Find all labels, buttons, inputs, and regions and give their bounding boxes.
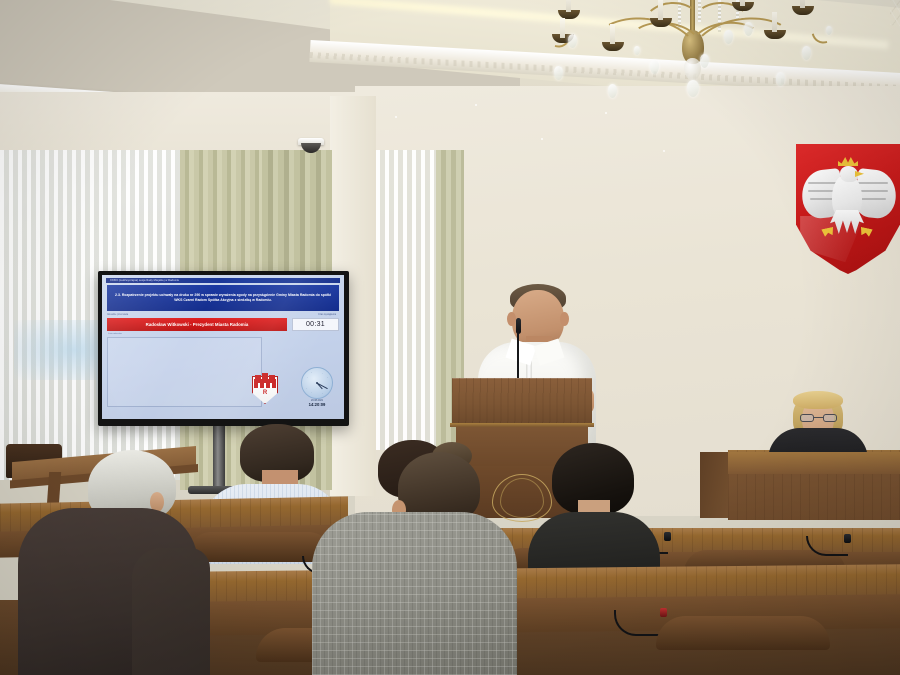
radom-city-crest-icon: R — [252, 372, 278, 404]
speech-timer-value: 00:31 — [306, 321, 325, 328]
presentation-display[interactable]: XXXIII (nadzwyczajna) sesja Rady Miejski… — [98, 271, 349, 426]
chandelier-crystal-drop — [776, 72, 785, 86]
chandelier-candle — [566, 0, 571, 12]
agenda-item-panel: 2.3. Rozpatrzenie projektu uchwały na dr… — [107, 285, 339, 311]
security-camera-icon — [298, 138, 324, 152]
camera-dome — [301, 143, 321, 153]
session-header-bar: XXXIII (nadzwyczajna) sesja Rady Miejski… — [106, 278, 340, 283]
chandelier-candle — [560, 18, 565, 38]
clock-time-text: 14:20:09 — [298, 402, 336, 407]
crest-tower-right — [269, 375, 275, 383]
chandelier-candle — [800, 0, 805, 8]
chandelier-candle — [740, 0, 745, 6]
chandelier-crystal-drop — [608, 84, 617, 98]
session-clock: 20.08.2021 14:20:09 — [298, 367, 336, 411]
chandelier-candle — [658, 0, 663, 20]
chandelier-crystal-drop — [802, 46, 811, 60]
dais-side-panel — [700, 452, 730, 518]
chandelier-crystal-drop — [568, 34, 577, 48]
speaker-ear-right — [560, 312, 569, 326]
audience4-tweed-jacket — [312, 512, 517, 675]
podium-microphone — [516, 318, 520, 380]
bench-seat-d[interactable] — [656, 616, 830, 650]
speaker-caption-label: Aktualnie przemawia — [107, 314, 128, 316]
shirt-collar-right — [534, 338, 565, 365]
session-hall-photo: XXXIII (nadzwyczajna) sesja Rady Miejski… — [0, 0, 900, 675]
table-left-leg — [47, 472, 61, 506]
official-fringe — [793, 391, 843, 409]
dais-front-rail — [728, 452, 900, 474]
tweed-texture — [312, 512, 517, 675]
chandelier-center-drop — [687, 80, 699, 97]
agenda-item-text: 2.3. Rozpatrzenie projektu uchwały na dr… — [114, 293, 332, 303]
polish-coat-of-arms-icon — [796, 144, 900, 274]
current-speaker-name: Radosław Witkowski - Prezydent Miasta Ra… — [146, 322, 249, 327]
bench-microphone-2[interactable] — [806, 536, 848, 556]
chandelier-crystal-drop — [554, 66, 563, 80]
eyeglasses-icon — [800, 414, 837, 422]
chandelier-candle — [610, 24, 615, 44]
podium-gold-inlay-inner — [500, 478, 544, 518]
speech-timer: 00:31 — [292, 318, 339, 331]
speaker-queue-label: Lista mówców — [108, 333, 122, 335]
chandelier — [530, 0, 870, 120]
tv-stand-column — [213, 424, 225, 488]
podium-wood-grain — [452, 378, 592, 424]
crest-tower-left — [255, 375, 261, 383]
chandelier-candle — [772, 12, 777, 32]
speaker-queue-list — [107, 337, 262, 407]
chandelier-scroll — [806, 10, 844, 49]
clock-face — [301, 367, 333, 399]
audience1-arm — [132, 548, 210, 675]
session-title-text: XXXIII (nadzwyczajna) sesja Rady Miejski… — [106, 278, 340, 283]
crest-letter-r: R — [252, 390, 278, 396]
tv-screen[interactable]: XXXIII (nadzwyczajna) sesja Rady Miejski… — [102, 275, 344, 419]
podium-top-panel — [452, 378, 592, 424]
window-right — [376, 150, 442, 450]
bench-microphone-4[interactable] — [614, 610, 664, 636]
clock-center-dot — [316, 382, 318, 384]
speaker-ear-left — [507, 312, 516, 326]
microphone-stem — [517, 330, 519, 380]
current-speaker-banner: Radosław Witkowski - Prezydent Miasta Ra… — [107, 318, 287, 331]
crest-tower-center — [262, 373, 268, 383]
timer-caption-label: Czas wystąpienia — [318, 314, 336, 316]
